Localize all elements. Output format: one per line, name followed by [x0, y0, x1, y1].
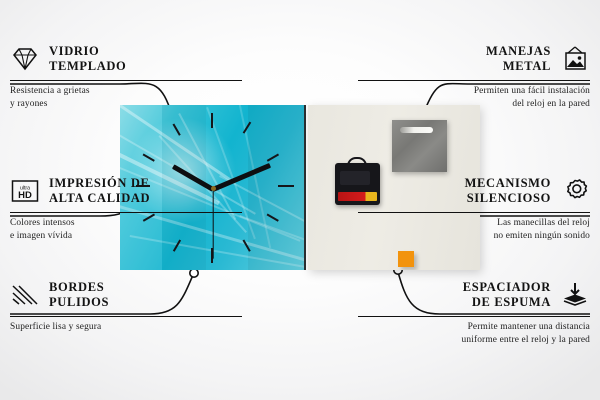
ultra-hd-icon: ultra HD — [10, 178, 40, 204]
gear-icon — [560, 178, 590, 204]
feature-rule — [358, 212, 590, 213]
clock-center-hub — [211, 186, 216, 191]
feature-title: MECANISMO SILENCIOSO — [465, 176, 551, 207]
diamond-icon — [10, 46, 40, 72]
feature-title: IMPRESIÓN DE ALTA CALIDAD — [49, 176, 150, 207]
feature-impresion-alta-calidad: ultra HD IMPRESIÓN DE ALTA CALIDAD Color… — [10, 174, 242, 242]
clock-tick — [211, 113, 213, 128]
hanger-keyhole-slot — [400, 127, 433, 133]
polished-edges-icon — [10, 282, 40, 308]
feature-rule — [10, 316, 242, 317]
infographic-canvas: VIDRIO TEMPLADO Resistencia a grietas y … — [0, 0, 600, 400]
feature-subtitle: Superficie lisa y segura — [10, 321, 242, 334]
feature-subtitle: Resistencia a grietas y rayones — [10, 85, 242, 110]
metal-hanger-plate — [392, 120, 447, 172]
wire-endpoint-bordes-pulidos — [190, 269, 198, 277]
mechanism-hanging-loop — [347, 157, 367, 167]
feature-subtitle: Las manecillas del reloj no emiten ningú… — [358, 217, 590, 242]
svg-text:HD: HD — [18, 190, 32, 201]
feature-subtitle: Colores intensos e imagen vívida — [10, 217, 242, 242]
feature-manejas-metal: MANEJAS METAL Permiten una fácil instala… — [358, 42, 590, 110]
clock-tick — [278, 185, 294, 187]
feature-mecanismo-silencioso: MECANISMO SILENCIOSO Las manecillas del … — [358, 174, 590, 242]
foam-spacer — [398, 251, 414, 267]
feature-vidrio-templado: VIDRIO TEMPLADO Resistencia a grietas y … — [10, 42, 242, 110]
feature-rule — [10, 80, 242, 81]
feature-bordes-pulidos: BORDES PULIDOS Superficie lisa y segura — [10, 278, 242, 334]
feature-espaciador-espuma: ESPACIADOR DE ESPUMA Permite mantener un… — [358, 278, 590, 346]
feature-title: VIDRIO TEMPLADO — [49, 44, 126, 75]
feature-subtitle: Permiten una fácil instalación del reloj… — [358, 85, 590, 110]
feature-title: MANEJAS METAL — [486, 44, 551, 75]
feature-subtitle: Permite mantener una distancia uniforme … — [358, 321, 590, 346]
feature-rule — [10, 212, 242, 213]
feature-title: BORDES PULIDOS — [49, 280, 109, 311]
feature-title: ESPACIADOR DE ESPUMA — [463, 280, 551, 311]
picture-hanger-icon — [560, 46, 590, 72]
foam-spacer-icon — [560, 282, 590, 308]
feature-rule — [358, 316, 590, 317]
feature-rule — [358, 80, 590, 81]
